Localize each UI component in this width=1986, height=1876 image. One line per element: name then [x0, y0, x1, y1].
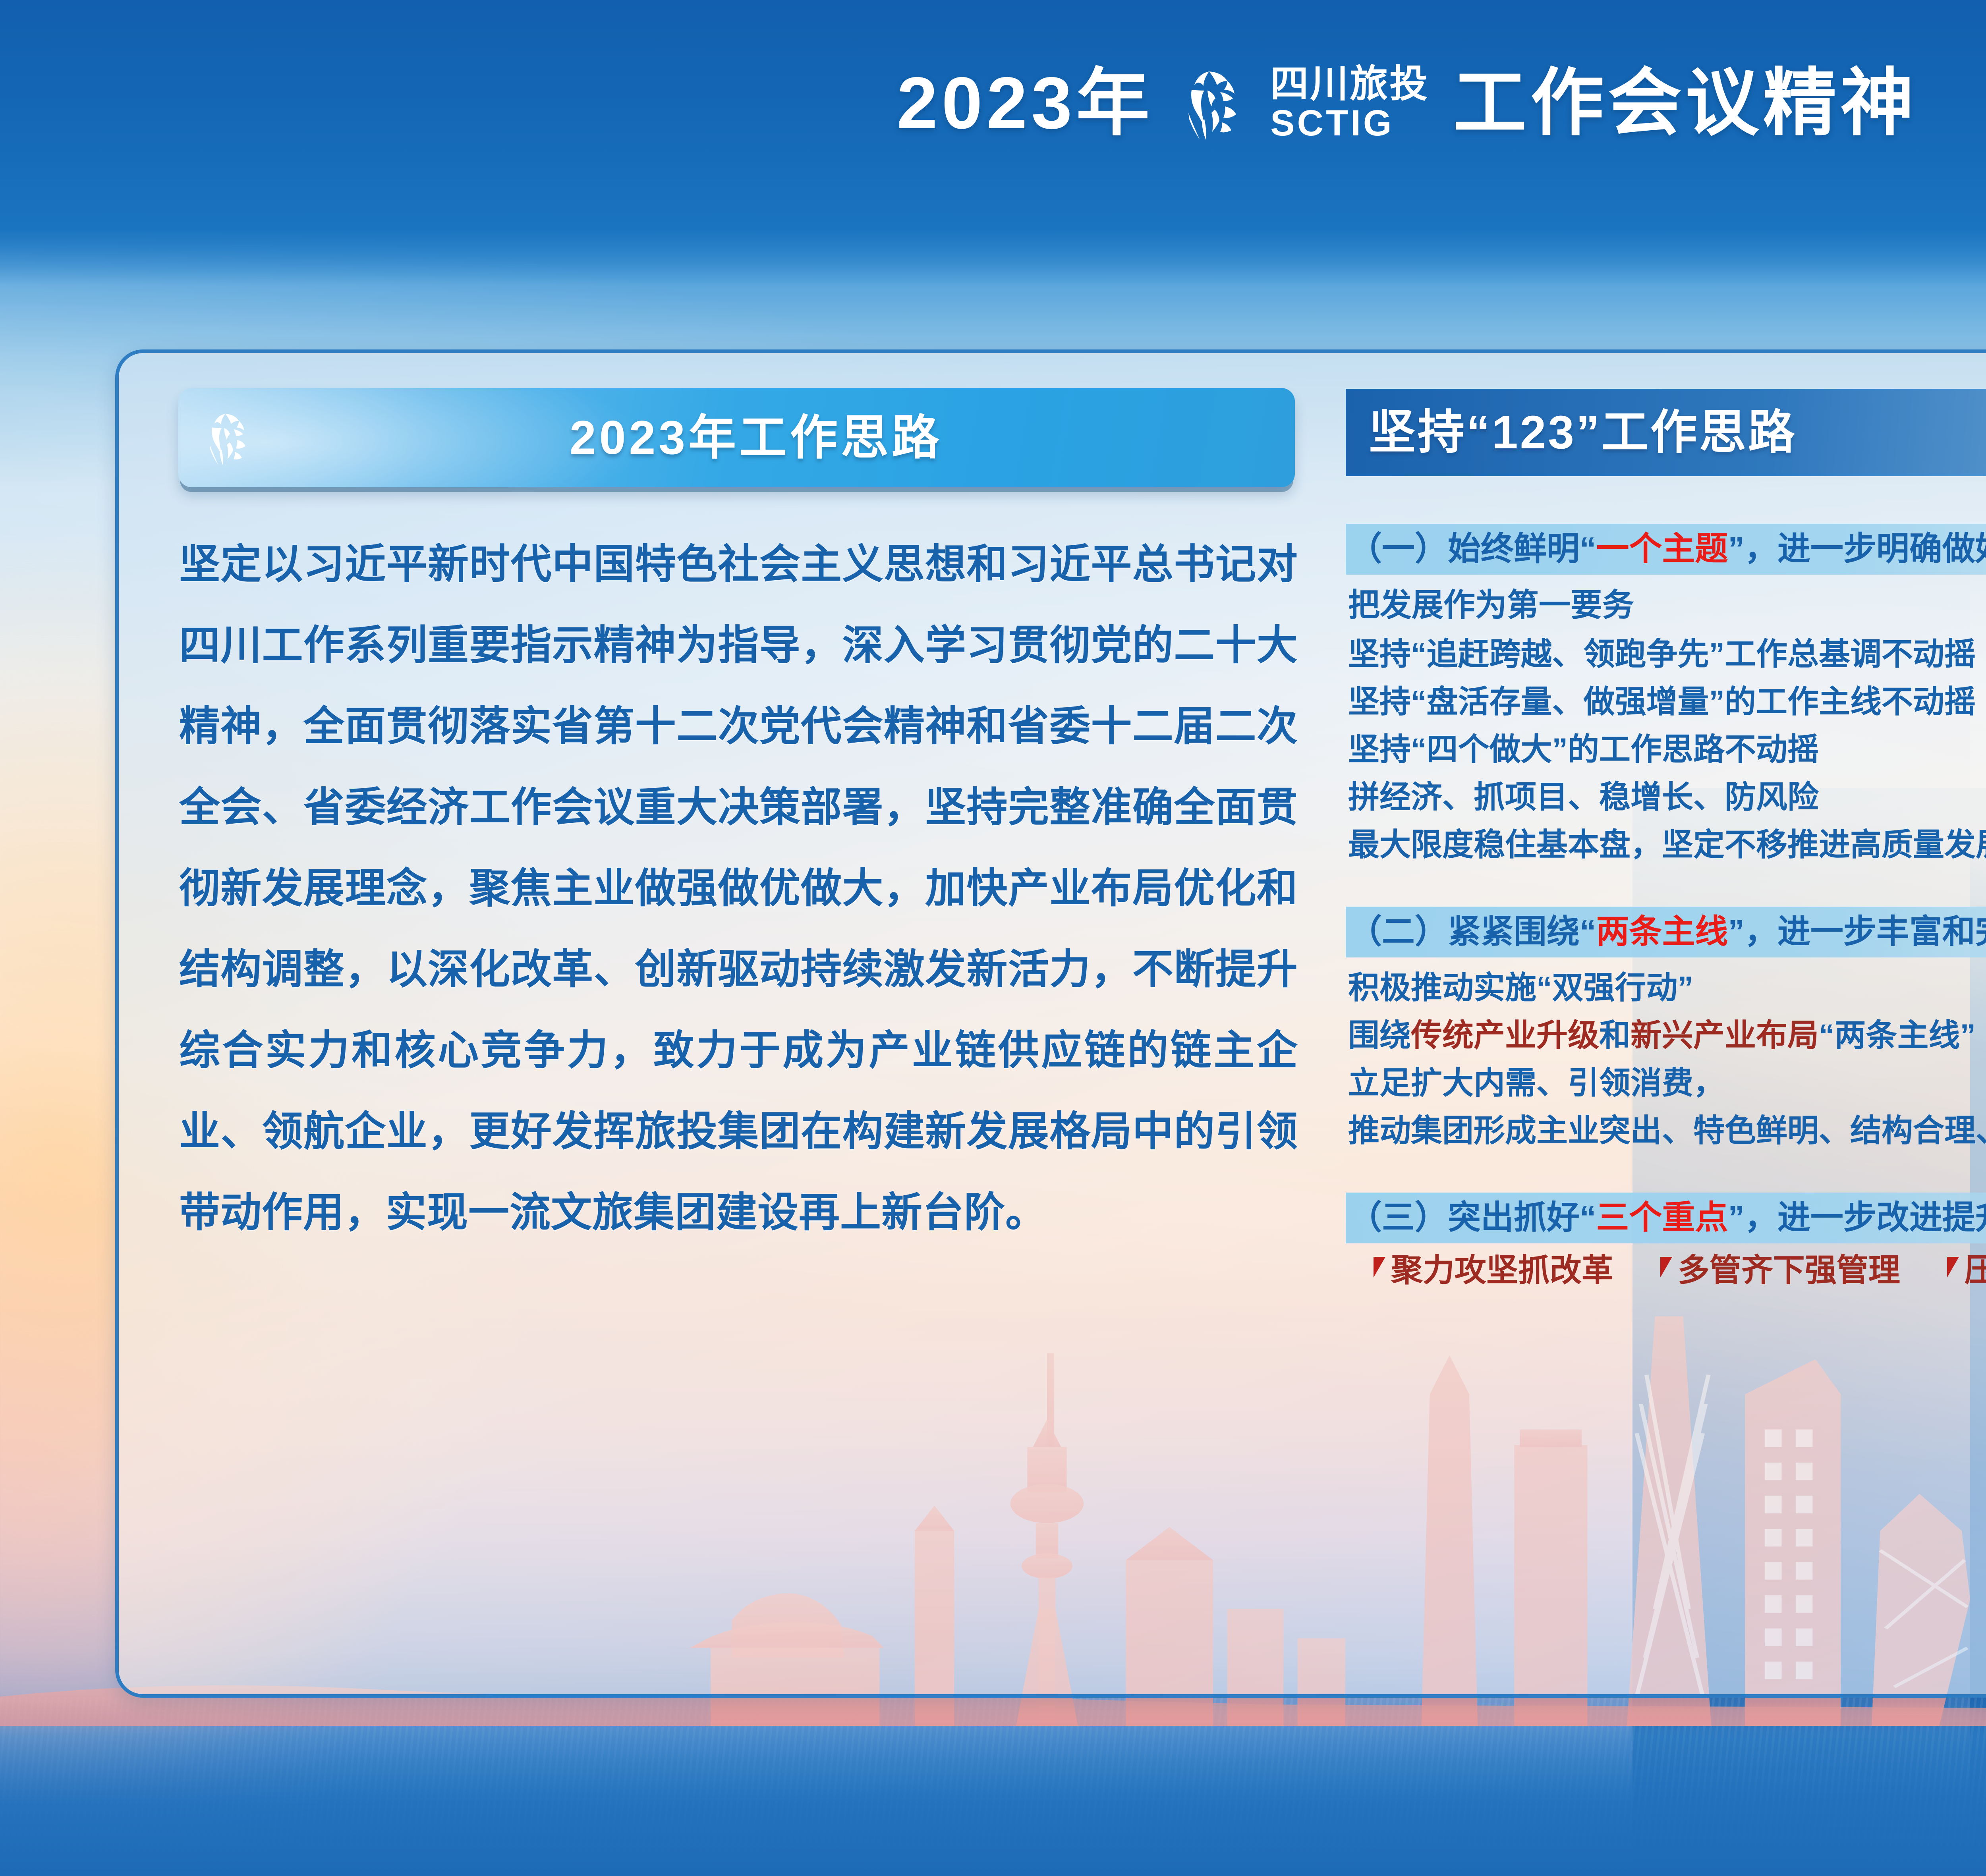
section-line: 推动集团形成主业突出、特色鲜明、结构合理、发展协同的产业格局。: [1348, 1107, 1986, 1154]
section-line: 坚持“盘活存量、做强增量”的工作主线不动摇: [1348, 678, 1986, 726]
section-2: （二）紧紧围绕“两条主线”，进一步丰富和完善集团高质量发展的产业格局积极推动实施…: [1346, 907, 1986, 1154]
section-heading-text: （三）突出抓好“三个重点”，进一步改进提升公司治理体系和治理效能: [1349, 1198, 1986, 1237]
line-text: 围绕: [1348, 1017, 1411, 1053]
heading-prefix: （三）突出抓好“: [1349, 1199, 1596, 1236]
section-heading-bar: （三）突出抓好“三个重点”，进一步改进提升公司治理体系和治理效能: [1346, 1193, 1986, 1243]
section-heading-bar: （二）紧紧围绕“两条主线”，进一步丰富和完善集团高质量发展的产业格局: [1346, 907, 1986, 957]
section-line: 立足扩大内需、引领消费，: [1348, 1059, 1986, 1107]
globe-icon: [201, 408, 261, 467]
section-line: 积极推动实施“双强行动”: [1348, 964, 1986, 1011]
heading-suffix: ”，进一步改进提升公司治理体系和治理效能: [1728, 1199, 1986, 1236]
section-line: 拼经济、抓项目、稳增长、防风险: [1348, 773, 1986, 821]
section-heading-bar: （一）始终鲜明“一个主题”，进一步明确做好全年工作的总体要求: [1346, 524, 1986, 575]
heading-highlight: 三个重点: [1596, 1199, 1728, 1236]
heading-highlight: 一个主题: [1596, 530, 1728, 567]
section-heading-text: （二）紧紧围绕“两条主线”，进一步丰富和完善集团高质量发展的产业格局: [1349, 912, 1986, 951]
section-line: 坚持“四个做大”的工作思路不动摇: [1348, 726, 1986, 773]
heading-prefix: （二）紧紧围绕“: [1349, 913, 1596, 950]
heading-suffix: ”，进一步明确做好全年工作的总体要求: [1728, 530, 1986, 567]
right-panel-title-bar: 坚持“123”工作思路: [1346, 389, 1986, 476]
key-point-item: 多管齐下强管理: [1660, 1253, 1900, 1288]
section-line: 最大限度稳住基本盘，坚定不移推进高质量发展。: [1348, 821, 1986, 869]
section-line: 围绕传统产业升级和新兴产业布局“两条主线”: [1348, 1011, 1986, 1059]
header-title-tail: 工作会议精神: [1453, 67, 1918, 140]
left-panel-title: 2023年工作思路: [261, 414, 1251, 461]
heading-prefix: （一）始终鲜明“: [1349, 530, 1596, 567]
left-panel-title-pill: 2023年工作思路: [178, 388, 1295, 487]
key-point-label: 压实责任保安全: [1965, 1253, 1986, 1288]
flag-marker-icon: [1374, 1257, 1385, 1278]
header-year-label: 2023年: [897, 67, 1154, 140]
key-point-item: 压实责任保安全: [1947, 1253, 1986, 1288]
right-panel-title: 坚持“123”工作思路: [1369, 409, 1797, 456]
section-line: 坚持“追赶跨越、领跑争先”工作总基调不动摇: [1348, 630, 1986, 678]
key-point-label: 聚力攻坚抓改革: [1391, 1253, 1613, 1288]
line-text: 积极推动实施“双强行动”: [1348, 970, 1693, 1005]
flag-marker-icon: [1660, 1257, 1672, 1278]
line-text: 立足扩大内需、引领消费，: [1348, 1065, 1725, 1100]
work-approach-paragraph: 坚定以习近平新时代中国特色社会主义思想和习近平总书记对四川工作系列重要指示精神为…: [179, 524, 1298, 1253]
brand-logo: 四川旅投 SCTIG: [1177, 64, 1429, 143]
flag-marker-icon: [1947, 1257, 1959, 1278]
line-text: “两条主线”: [1819, 1017, 1976, 1053]
key-points-row: 聚力攻坚抓改革多管齐下强管理压实责任保安全: [1374, 1253, 1986, 1288]
line-emphasis: 传统产业升级: [1411, 1017, 1599, 1053]
section-1: （一）始终鲜明“一个主题”，进一步明确做好全年工作的总体要求把发展作为第一要务坚…: [1346, 524, 1986, 869]
section-3: （三）突出抓好“三个重点”，进一步改进提升公司治理体系和治理效能聚力攻坚抓改革多…: [1346, 1193, 1986, 1288]
sections-list: （一）始终鲜明“一个主题”，进一步明确做好全年工作的总体要求把发展作为第一要务坚…: [1346, 524, 1986, 1288]
section-heading-text: （一）始终鲜明“一个主题”，进一步明确做好全年工作的总体要求: [1349, 529, 1986, 568]
heading-suffix: ”，进一步丰富和完善集团高质量发展的产业格局: [1728, 913, 1986, 950]
key-point-item: 聚力攻坚抓改革: [1374, 1253, 1613, 1288]
key-point-label: 多管齐下强管理: [1678, 1253, 1900, 1288]
line-emphasis: 新兴产业布局: [1631, 1017, 1819, 1053]
right-column: 坚持“123”工作思路 （一）始终鲜明“一个主题”，进一步明确做好全年工作的总体…: [1330, 381, 1986, 1678]
section-subheading: 把发展作为第一要务: [1348, 581, 1986, 629]
brand-name-cn: 四川旅投: [1270, 65, 1429, 103]
globe-icon: [1177, 64, 1257, 143]
brand-name-en: SCTIG: [1270, 105, 1394, 141]
heading-highlight: 两条主线: [1596, 913, 1728, 950]
poster-root: 2023年: [0, 0, 1986, 1876]
line-text: 推动集团形成主业突出、特色鲜明、结构合理、发展协同的产业格局。: [1348, 1113, 1986, 1148]
background-water-band: [0, 1698, 1986, 1876]
poster-header: 2023年: [0, 44, 1986, 163]
content-panel: 2023年工作思路 坚定以习近平新时代中国特色社会主义思想和习近平总书记对四川工…: [115, 349, 1986, 1698]
brand-logo-wordmark: 四川旅投 SCTIG: [1270, 65, 1429, 141]
line-text: 和: [1599, 1017, 1631, 1053]
left-column: 2023年工作思路 坚定以习近平新时代中国特色社会主义思想和习近平总书记对四川工…: [135, 381, 1330, 1678]
